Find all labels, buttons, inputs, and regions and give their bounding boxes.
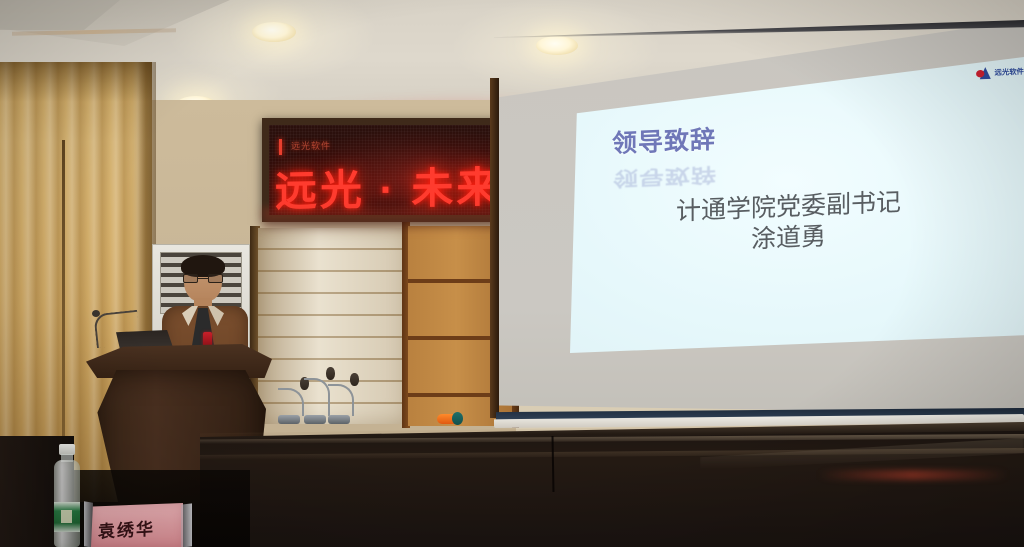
object-cap [452,412,463,425]
glasses-icon [183,274,223,283]
microphone-gooseneck [278,388,304,416]
led-marker-icon [279,139,282,155]
table-microphone-group [278,366,368,424]
glasses-lens-left [183,274,198,283]
microphone-base [304,415,326,424]
glasses-bridge [198,278,208,280]
ceiling-downlight [252,22,296,42]
name-card-holder-right [181,503,192,547]
glasses-lens-right [208,274,223,283]
led-banner-subtext: 远光软件 [291,139,331,152]
slide-logo-text: 远光软件 [994,67,1023,78]
microphone-gooseneck [328,384,354,416]
company-logo-icon [976,67,992,80]
slide-corner-logo: 远光软件 [976,66,1024,80]
name-tent-card: 袁绣华 [84,500,192,547]
microphone-gooseneck [304,378,330,416]
orange-teal-object [437,412,463,426]
table-red-reflection [818,470,1008,480]
slide-title: 领导致辞 [612,120,716,160]
slide-title-reflection: 领导致辞 [613,162,717,194]
projection-screen-left-frame [490,78,499,418]
name-card-text: 袁绣华 [98,515,155,543]
conference-hall-photo: 远光软件 远光 · 未来星光杯 领导致辞 领导致辞 计通学院党委副书记 涂道勇 … [0,0,1024,547]
microphone-base [278,415,300,424]
ceiling-downlight [536,36,578,55]
curtain-top-shadow [0,62,152,102]
water-bottle [52,444,82,547]
bottle-label-mark [61,510,72,523]
microphone-head [350,373,359,386]
microphone-head [326,367,335,380]
microphone-base [328,415,350,424]
slide-body-text: 计通学院党委副书记 涂道勇 [676,187,901,257]
